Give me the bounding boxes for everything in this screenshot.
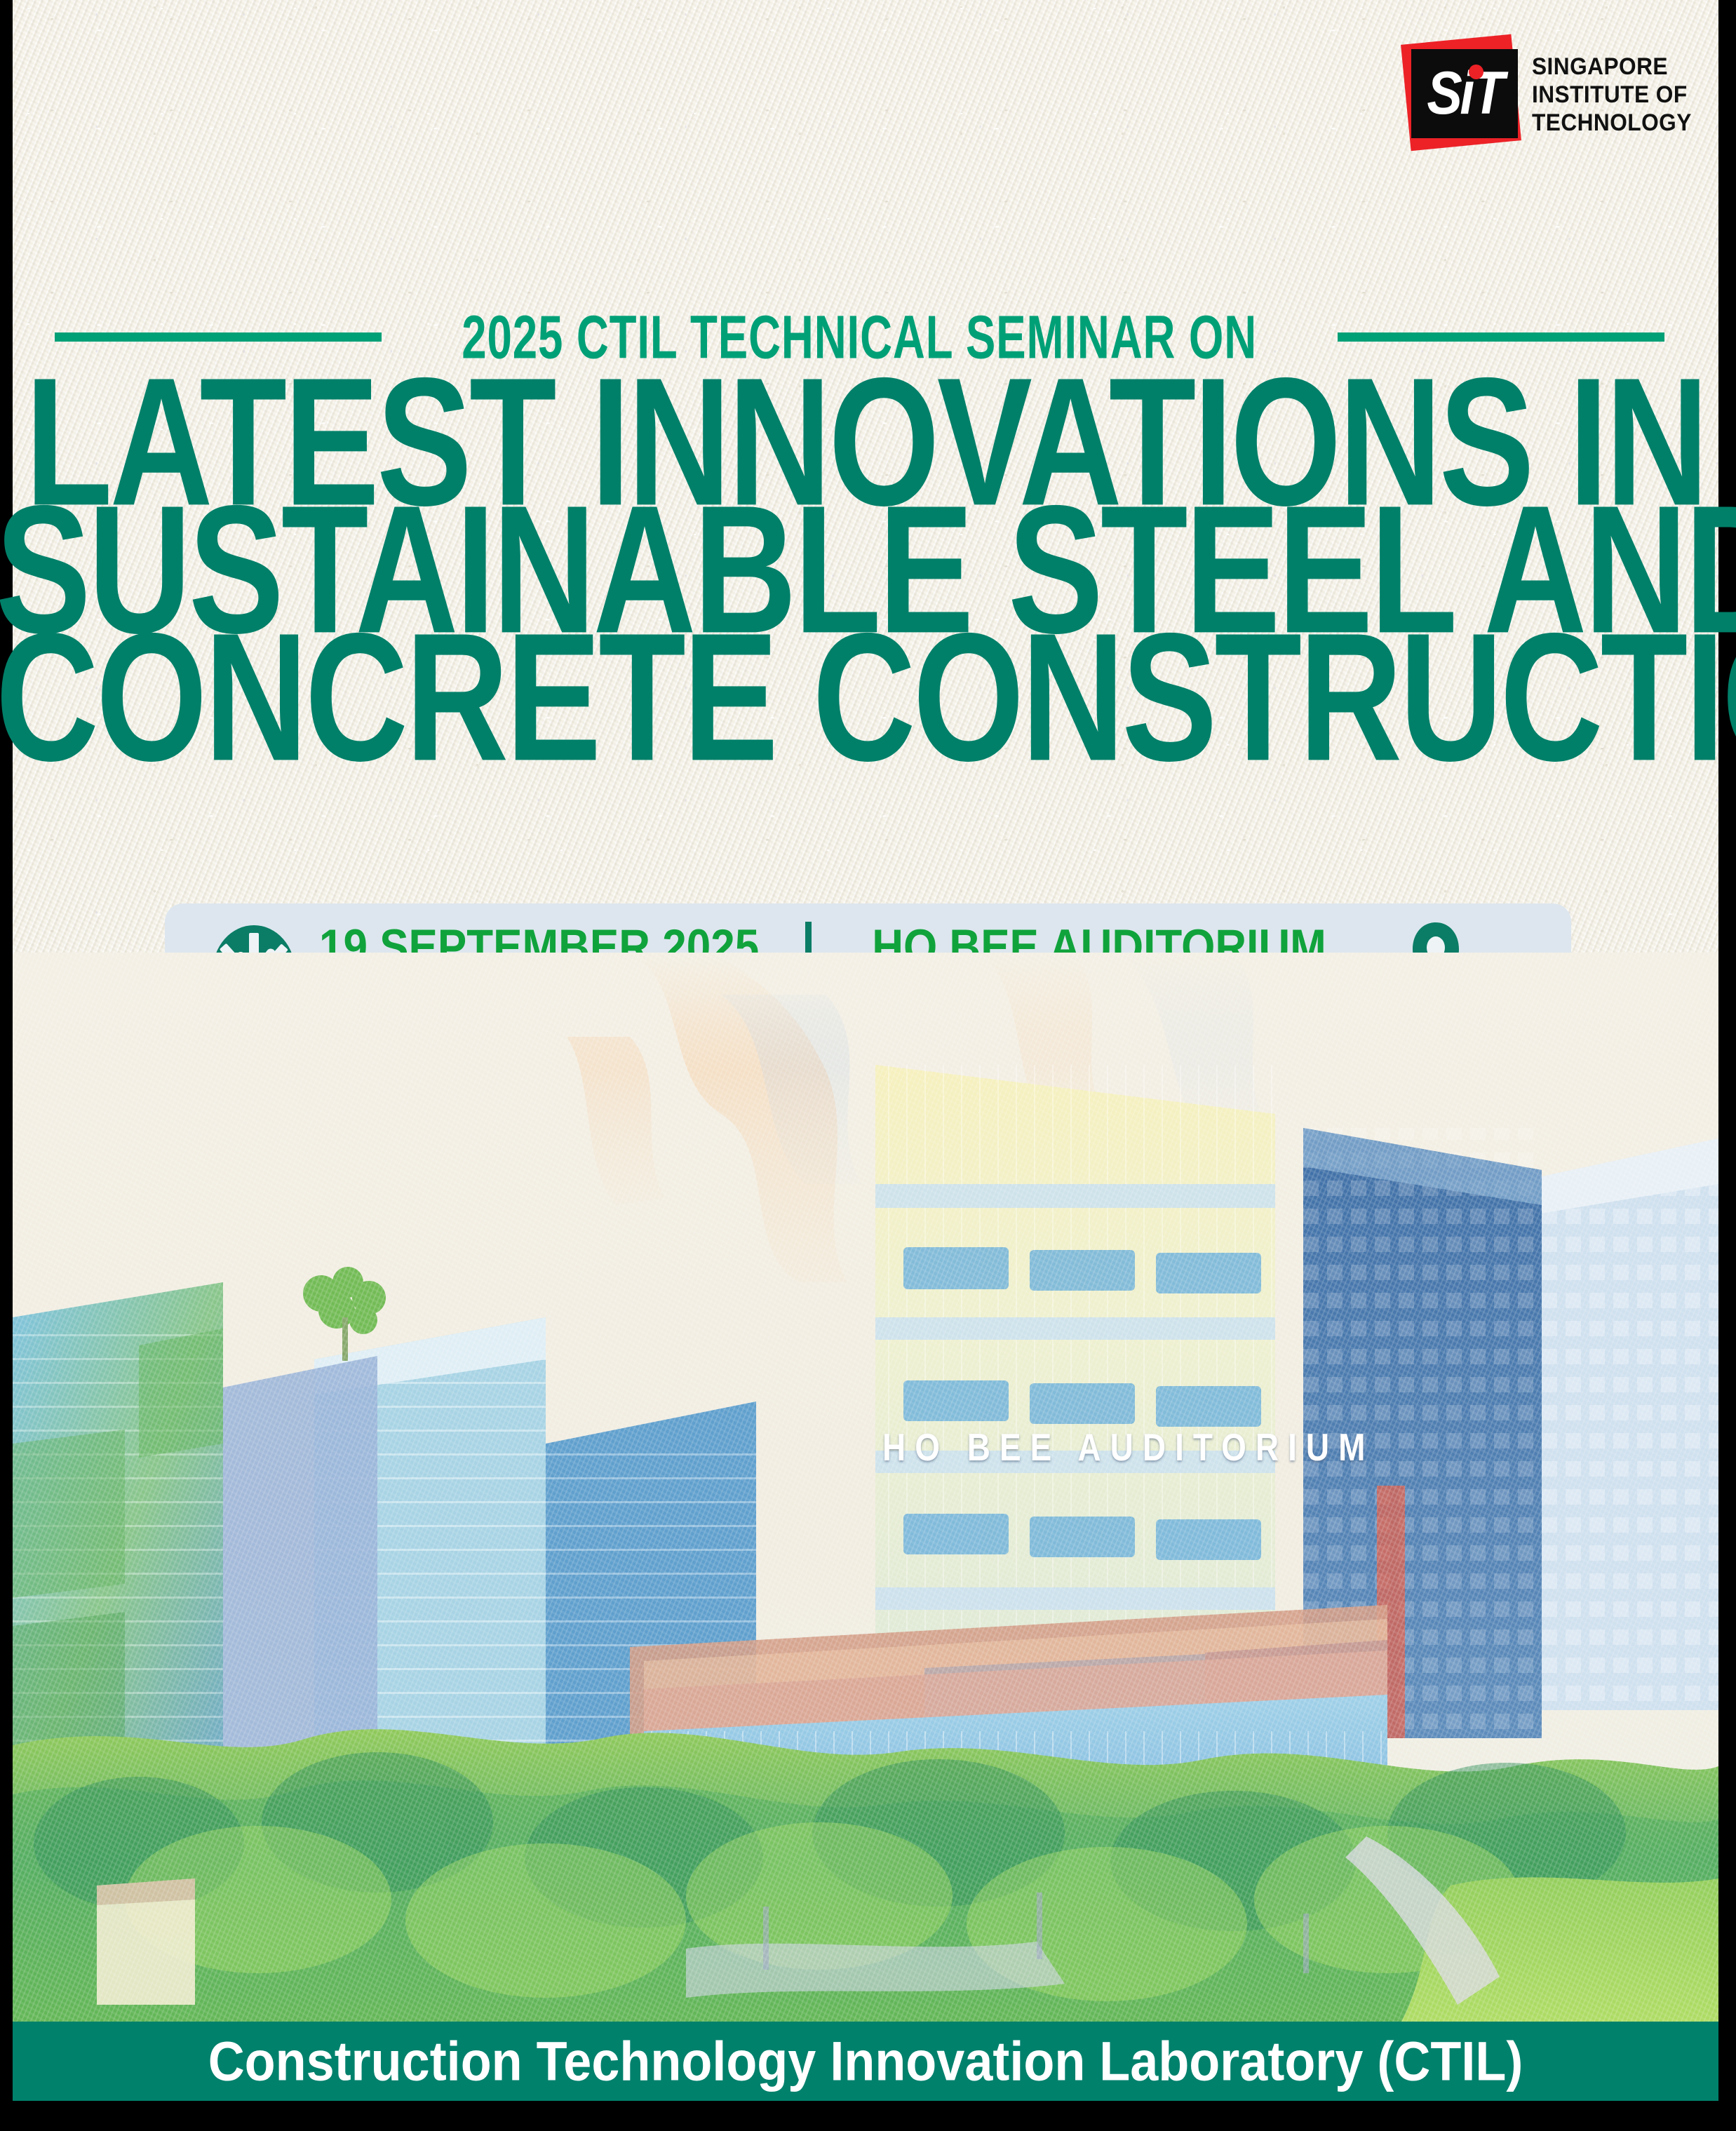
logo-org-line-3: TECHNOLOGY xyxy=(1532,109,1692,137)
logo-org-line-2: INSTITUTE OF xyxy=(1532,81,1692,109)
building-signage-text: HO BEE AUDITORIUM xyxy=(882,1425,1374,1470)
logo-sit-text: SiT xyxy=(1418,49,1512,138)
sit-logo: SiT SINGAPORE INSTITUTE OF TECHNOLOGY xyxy=(1401,36,1682,149)
logo-red-dot-icon xyxy=(1469,65,1483,79)
page-title: LATEST INNOVATIONS IN SUSTAINABLE STEEL … xyxy=(13,379,1718,762)
logo-org-name: SINGAPORE INSTITUTE OF TECHNOLOGY xyxy=(1532,53,1692,137)
footer-bar: Construction Technology Innovation Labor… xyxy=(13,2022,1718,2101)
footer-label: Construction Technology Innovation Labor… xyxy=(208,2029,1523,2092)
seminar-poster: SiT SINGAPORE INSTITUTE OF TECHNOLOGY 20… xyxy=(0,0,1736,2131)
logo-org-line-1: SINGAPORE xyxy=(1532,53,1692,81)
headline-line-3: CONCRETE CONSTRUCTION xyxy=(0,615,1735,781)
campus-watercolour-illustration: HO BEE AUDITORIUM xyxy=(13,953,1718,2022)
